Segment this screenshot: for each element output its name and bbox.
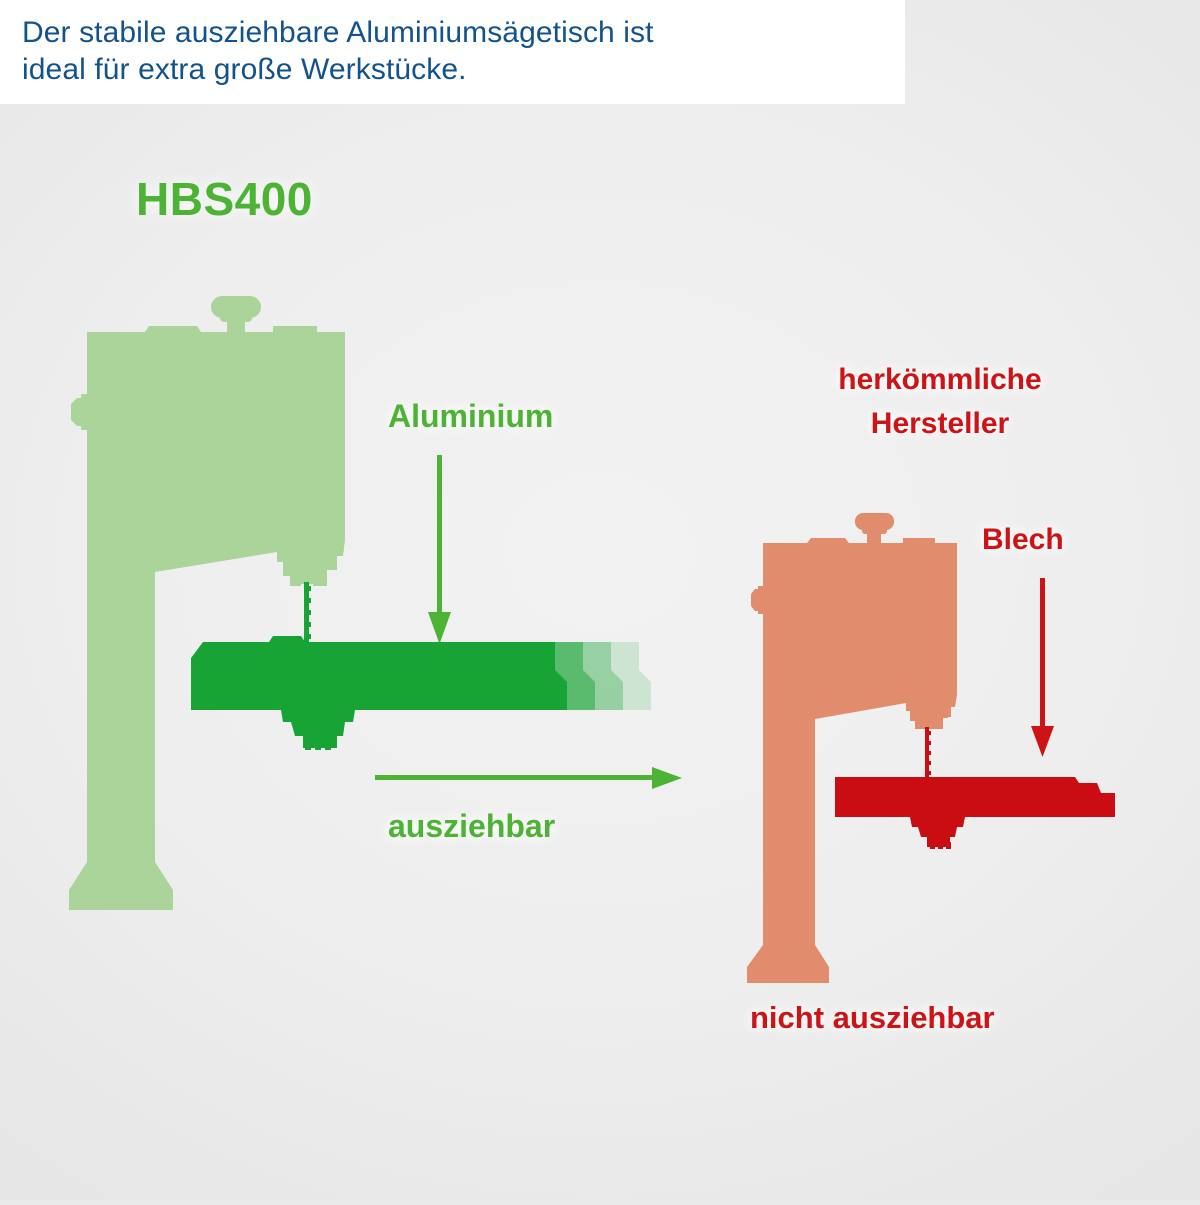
label-ausziehbar: ausziehbar	[388, 808, 555, 845]
blech-table-red	[835, 777, 1115, 849]
knob-icon	[855, 513, 894, 544]
label-aluminium: Aluminium	[388, 398, 553, 435]
machine-body-green	[69, 326, 345, 910]
label-blech: Blech	[982, 523, 1064, 557]
label-nicht-ausziehbar: nicht ausziehbar	[750, 1000, 995, 1036]
page-title: HBS400	[136, 172, 313, 226]
conventional-bandsaw-graphic	[735, 505, 1155, 1025]
caption-text: Der stabile ausziehbare Aluminiumsägetis…	[22, 14, 905, 88]
caption-banner: Der stabile ausziehbare Aluminiumsägetis…	[0, 0, 905, 104]
aluminium-table-green	[191, 636, 567, 750]
side-latch-icon	[71, 394, 89, 430]
hbs400-bandsaw-graphic	[55, 290, 675, 930]
label-herkoemmliche-hersteller: herkömmliche Hersteller	[795, 358, 1085, 446]
knob-icon	[211, 296, 261, 334]
illustration-canvas: Der stabile ausziehbare Aluminiumsägetis…	[0, 0, 1200, 1200]
side-latch-icon	[751, 586, 765, 614]
